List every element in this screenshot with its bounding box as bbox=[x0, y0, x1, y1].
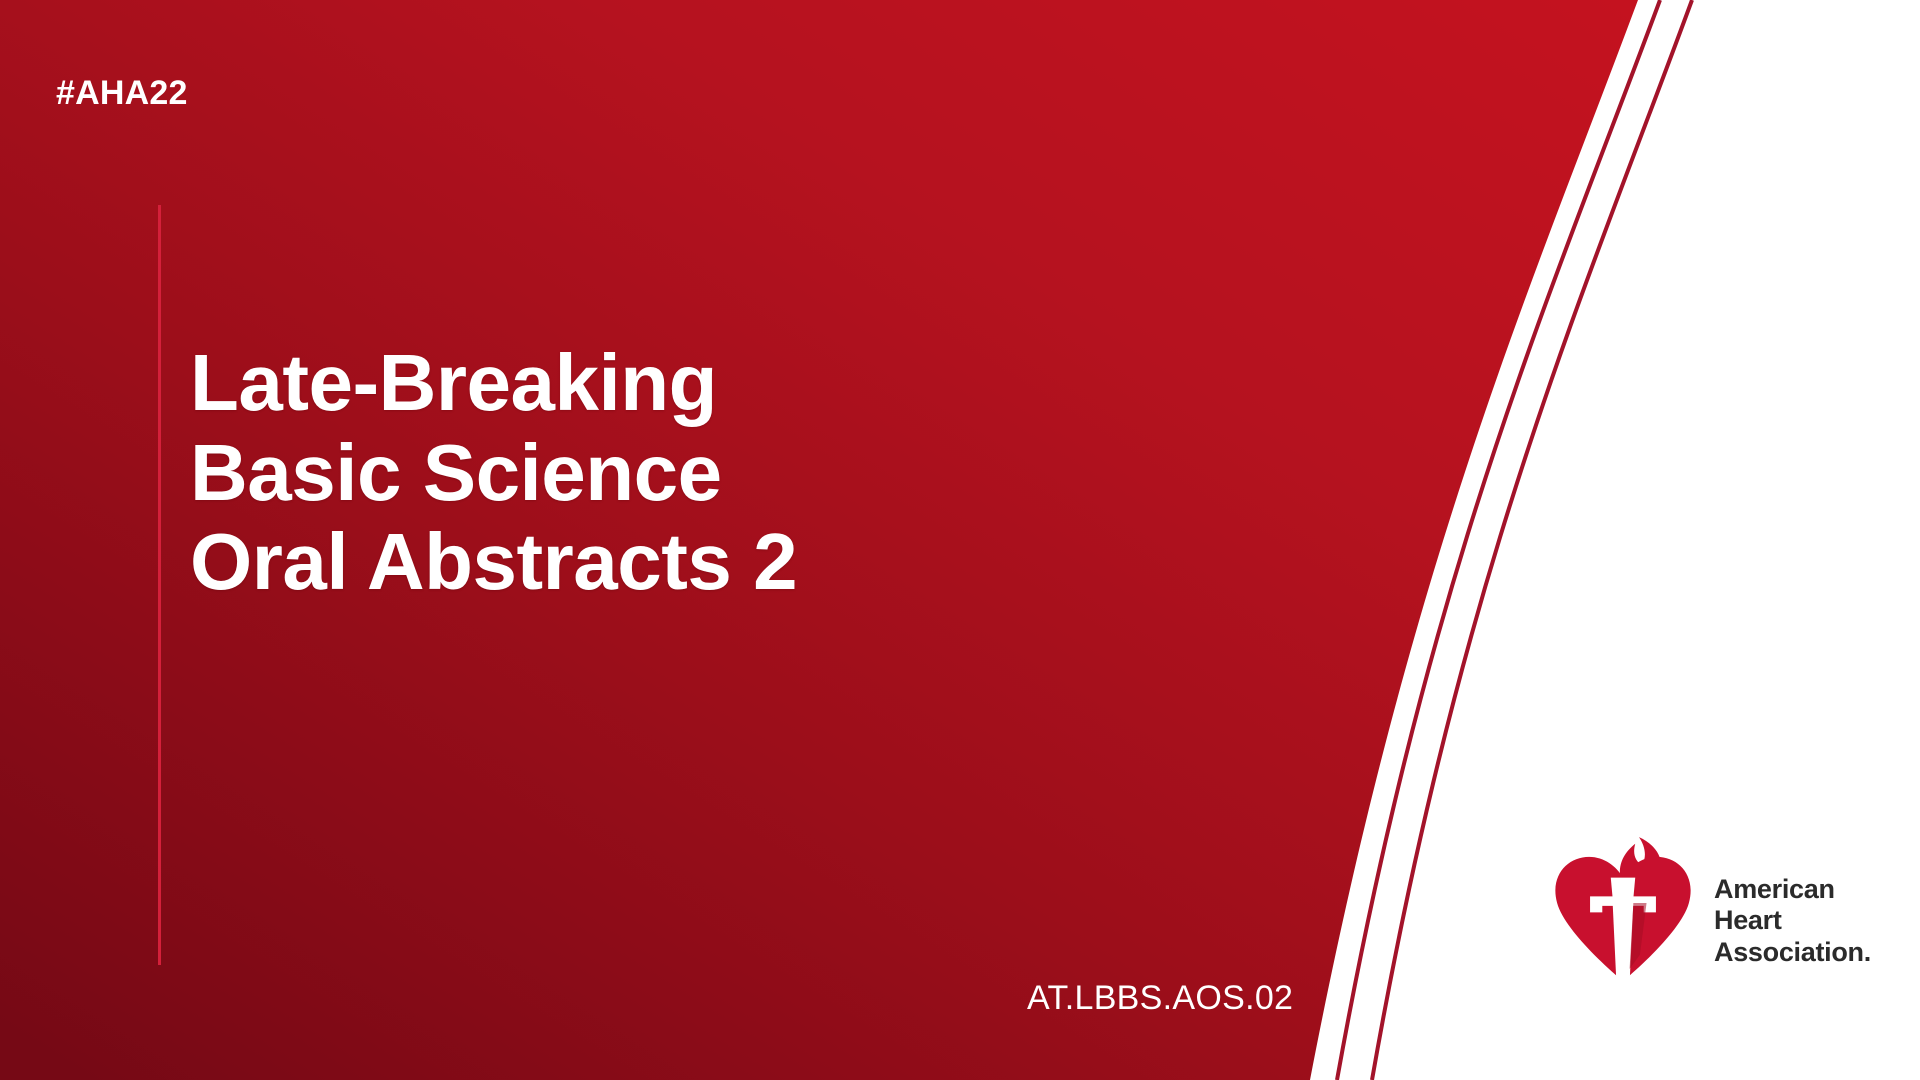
title-line-3: Oral Abstracts 2 bbox=[190, 517, 1240, 607]
session-code: AT.LBBS.AOS.02 bbox=[1027, 981, 1293, 1015]
aha-wordmark: American Heart Association. bbox=[1714, 838, 1871, 968]
aha-logo-lockup: American Heart Association. bbox=[1548, 818, 1878, 988]
title-line-1: Late-Breaking bbox=[190, 338, 1240, 428]
slide-canvas: #AHA22 Late-Breaking Basic Science Oral … bbox=[0, 0, 1920, 1080]
slide-title: Late-Breaking Basic Science Oral Abstrac… bbox=[190, 338, 1240, 607]
event-hashtag: #AHA22 bbox=[56, 76, 188, 110]
wordmark-line-3: Association. bbox=[1714, 937, 1871, 968]
wordmark-line-1: American bbox=[1714, 874, 1871, 905]
aha-heart-torch-icon bbox=[1548, 823, 1698, 983]
wordmark-line-2: Heart bbox=[1714, 905, 1871, 936]
title-line-2: Basic Science bbox=[190, 428, 1240, 518]
title-accent-rule bbox=[158, 205, 161, 965]
